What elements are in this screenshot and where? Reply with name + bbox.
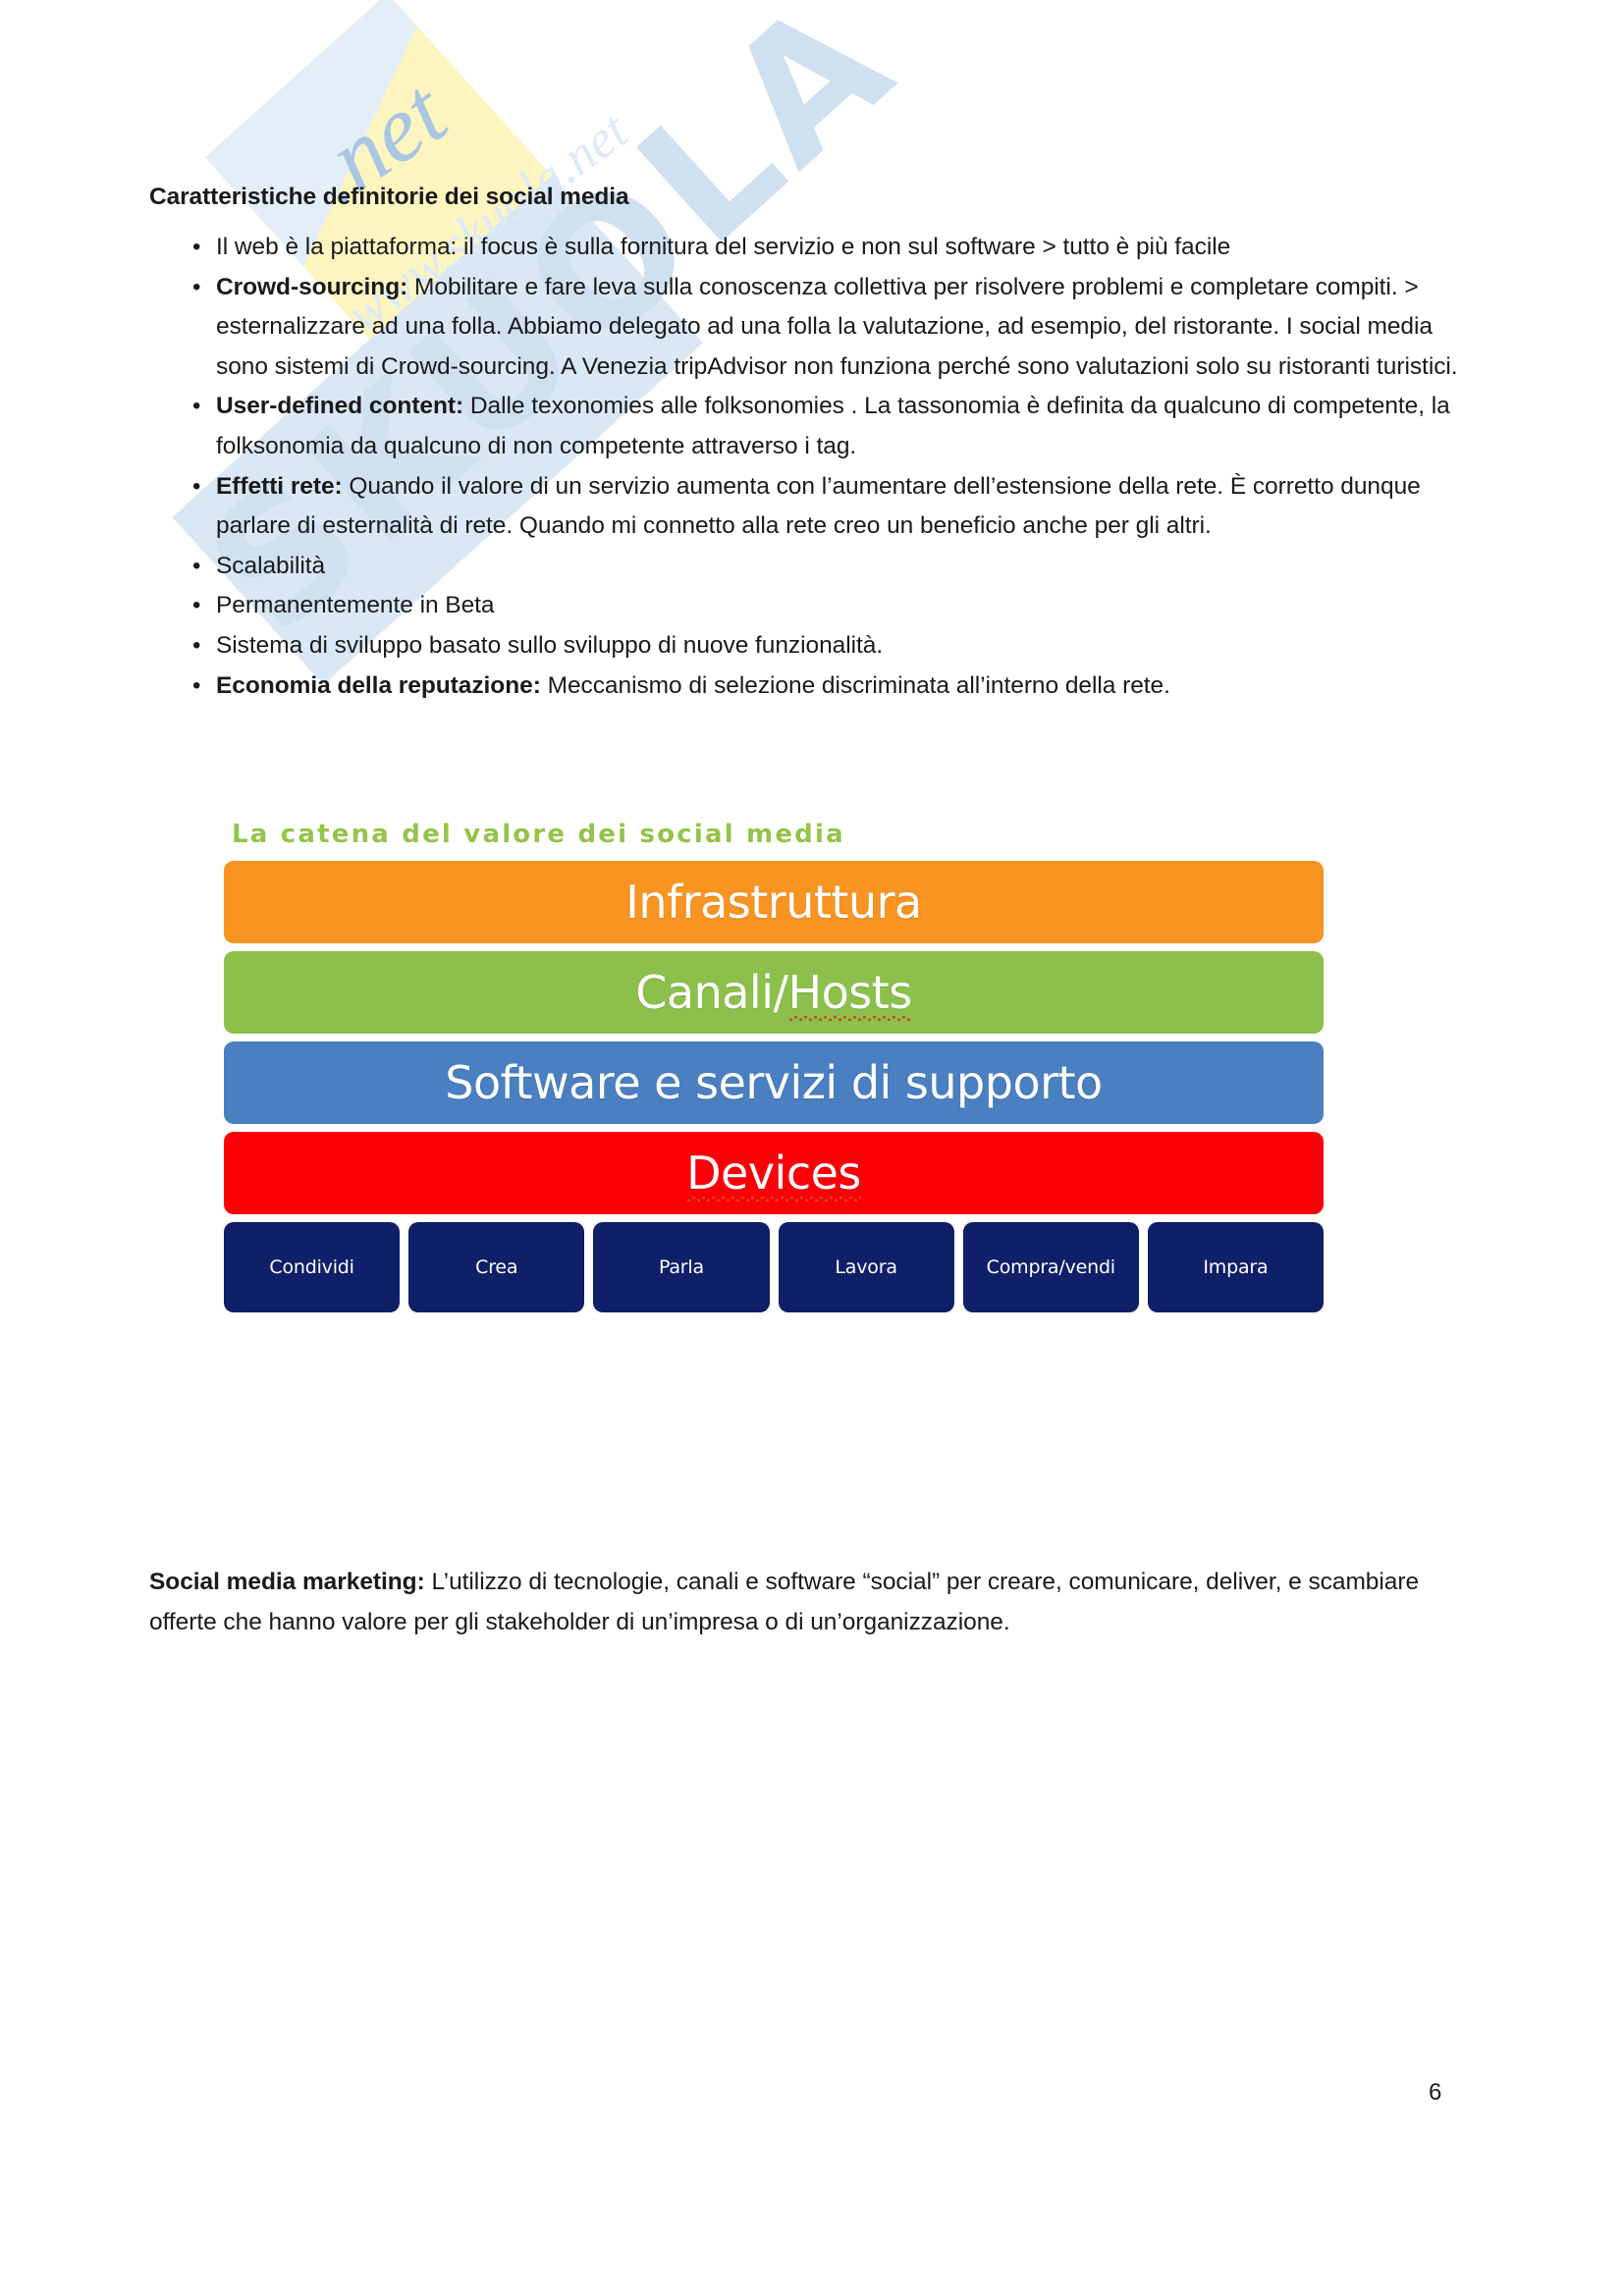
- diagram-layer-devices: Devices: [224, 1132, 1324, 1214]
- diagram-activity-label: Lavora: [835, 1256, 896, 1278]
- diagram-activity-impara: Impara: [1148, 1222, 1324, 1312]
- list-item-text: Permanentemente in Beta: [216, 586, 1477, 626]
- list-item: • Crowd-sourcing: Mobilitare e fare leva…: [149, 268, 1477, 388]
- diagram-layer-software-servizi: Software e servizi di supporto: [224, 1041, 1324, 1124]
- list-item: • Il web è la piattaforma: il focus è su…: [149, 228, 1477, 268]
- closing-term: Social media marketing:: [149, 1569, 425, 1595]
- spellcheck-underline-text: Hosts: [788, 966, 912, 1019]
- diagram-layer-infrastruttura: Infrastruttura: [224, 861, 1324, 943]
- list-item-body: Il web è la piattaforma: il focus è sull…: [216, 234, 1230, 260]
- bullet-marker-icon: •: [149, 667, 216, 707]
- diagram-layer-label: Canali/Hosts: [635, 966, 911, 1019]
- diagram-activity-label: Compra/vendi: [987, 1256, 1115, 1278]
- list-item: • Effetti rete: Quando il valore di un s…: [149, 467, 1477, 547]
- bullet-marker-icon: •: [149, 586, 216, 626]
- list-item: • Economia della reputazione: Meccanismo…: [149, 667, 1477, 707]
- list-item-text: Sistema di sviluppo basato sullo svilupp…: [216, 626, 1477, 667]
- features-bullet-list: • Il web è la piattaforma: il focus è su…: [149, 228, 1477, 706]
- bullet-marker-icon: •: [149, 547, 216, 587]
- list-item-text: Il web è la piattaforma: il focus è sull…: [216, 228, 1477, 268]
- diagram-activity-label: Impara: [1203, 1256, 1268, 1278]
- list-item-text: Crowd-sourcing: Mobilitare e fare leva s…: [216, 268, 1477, 388]
- page-number: 6: [1429, 2079, 1441, 2107]
- list-item-body: Scalabilità: [216, 553, 325, 579]
- diagram-activity-compra-vendi: Compra/vendi: [963, 1222, 1139, 1312]
- list-item-text: Effetti rete: Quando il valore di un ser…: [216, 467, 1477, 547]
- list-item-term: Crowd-sourcing:: [216, 274, 407, 300]
- diagram-layer-label-part: Canali/: [635, 966, 787, 1019]
- diagram-activity-label: Condividi: [269, 1256, 353, 1278]
- list-item: • User-defined content: Dalle texonomies…: [149, 387, 1477, 466]
- diagram-activity-crea: Crea: [408, 1222, 584, 1312]
- bullet-marker-icon: •: [149, 467, 216, 507]
- diagram-layer-label: Devices: [686, 1147, 861, 1200]
- page-title: Caratteristiche definitorie dei social m…: [149, 184, 628, 211]
- diagram-layer-label: Software e servizi di supporto: [445, 1056, 1102, 1109]
- value-chain-diagram: La catena del valore dei social media In…: [224, 820, 1324, 1312]
- bullet-marker-icon: •: [149, 387, 216, 427]
- bullet-marker-icon: •: [149, 626, 216, 667]
- list-item: • Scalabilità: [149, 547, 1477, 587]
- diagram-activity-parla: Parla: [593, 1222, 769, 1312]
- list-item-text: Economia della reputazione: Meccanismo d…: [216, 667, 1477, 707]
- list-item-body: Meccanismo di selezione discriminata all…: [541, 672, 1170, 699]
- diagram-activities-row: Condividi Crea Parla Lavora Compra/vendi…: [224, 1222, 1324, 1312]
- list-item-text: User-defined content: Dalle texonomies a…: [216, 387, 1477, 466]
- list-item: • Permanentemente in Beta: [149, 586, 1477, 626]
- bullet-marker-icon: •: [149, 268, 216, 308]
- list-item-body: Permanentemente in Beta: [216, 592, 495, 618]
- list-item-term: Effetti rete:: [216, 473, 343, 500]
- closing-paragraph: Social media marketing: L’utilizzo di te…: [149, 1563, 1455, 1642]
- list-item: • Sistema di sviluppo basato sullo svilu…: [149, 626, 1477, 667]
- bullet-marker-icon: •: [149, 228, 216, 268]
- diagram-layer-label: Infrastruttura: [625, 876, 921, 929]
- diagram-activity-condividi: Condividi: [224, 1222, 400, 1312]
- list-item-term: User-defined content:: [216, 393, 463, 419]
- diagram-title: La catena del valore dei social media: [232, 820, 1324, 849]
- list-item-body: Sistema di sviluppo basato sullo svilupp…: [216, 632, 883, 659]
- document-page: SKUOLA .net www.skuola.net Caratteristic…: [0, 0, 1624, 2296]
- list-item-term: Economia della reputazione:: [216, 672, 541, 699]
- list-item-text: Scalabilità: [216, 547, 1477, 587]
- list-item-body: Quando il valore di un servizio aumenta …: [216, 473, 1421, 540]
- diagram-activity-lavora: Lavora: [779, 1222, 954, 1312]
- diagram-activity-label: Crea: [475, 1256, 517, 1278]
- diagram-layer-canali-hosts: Canali/Hosts: [224, 951, 1324, 1034]
- diagram-activity-label: Parla: [659, 1256, 704, 1278]
